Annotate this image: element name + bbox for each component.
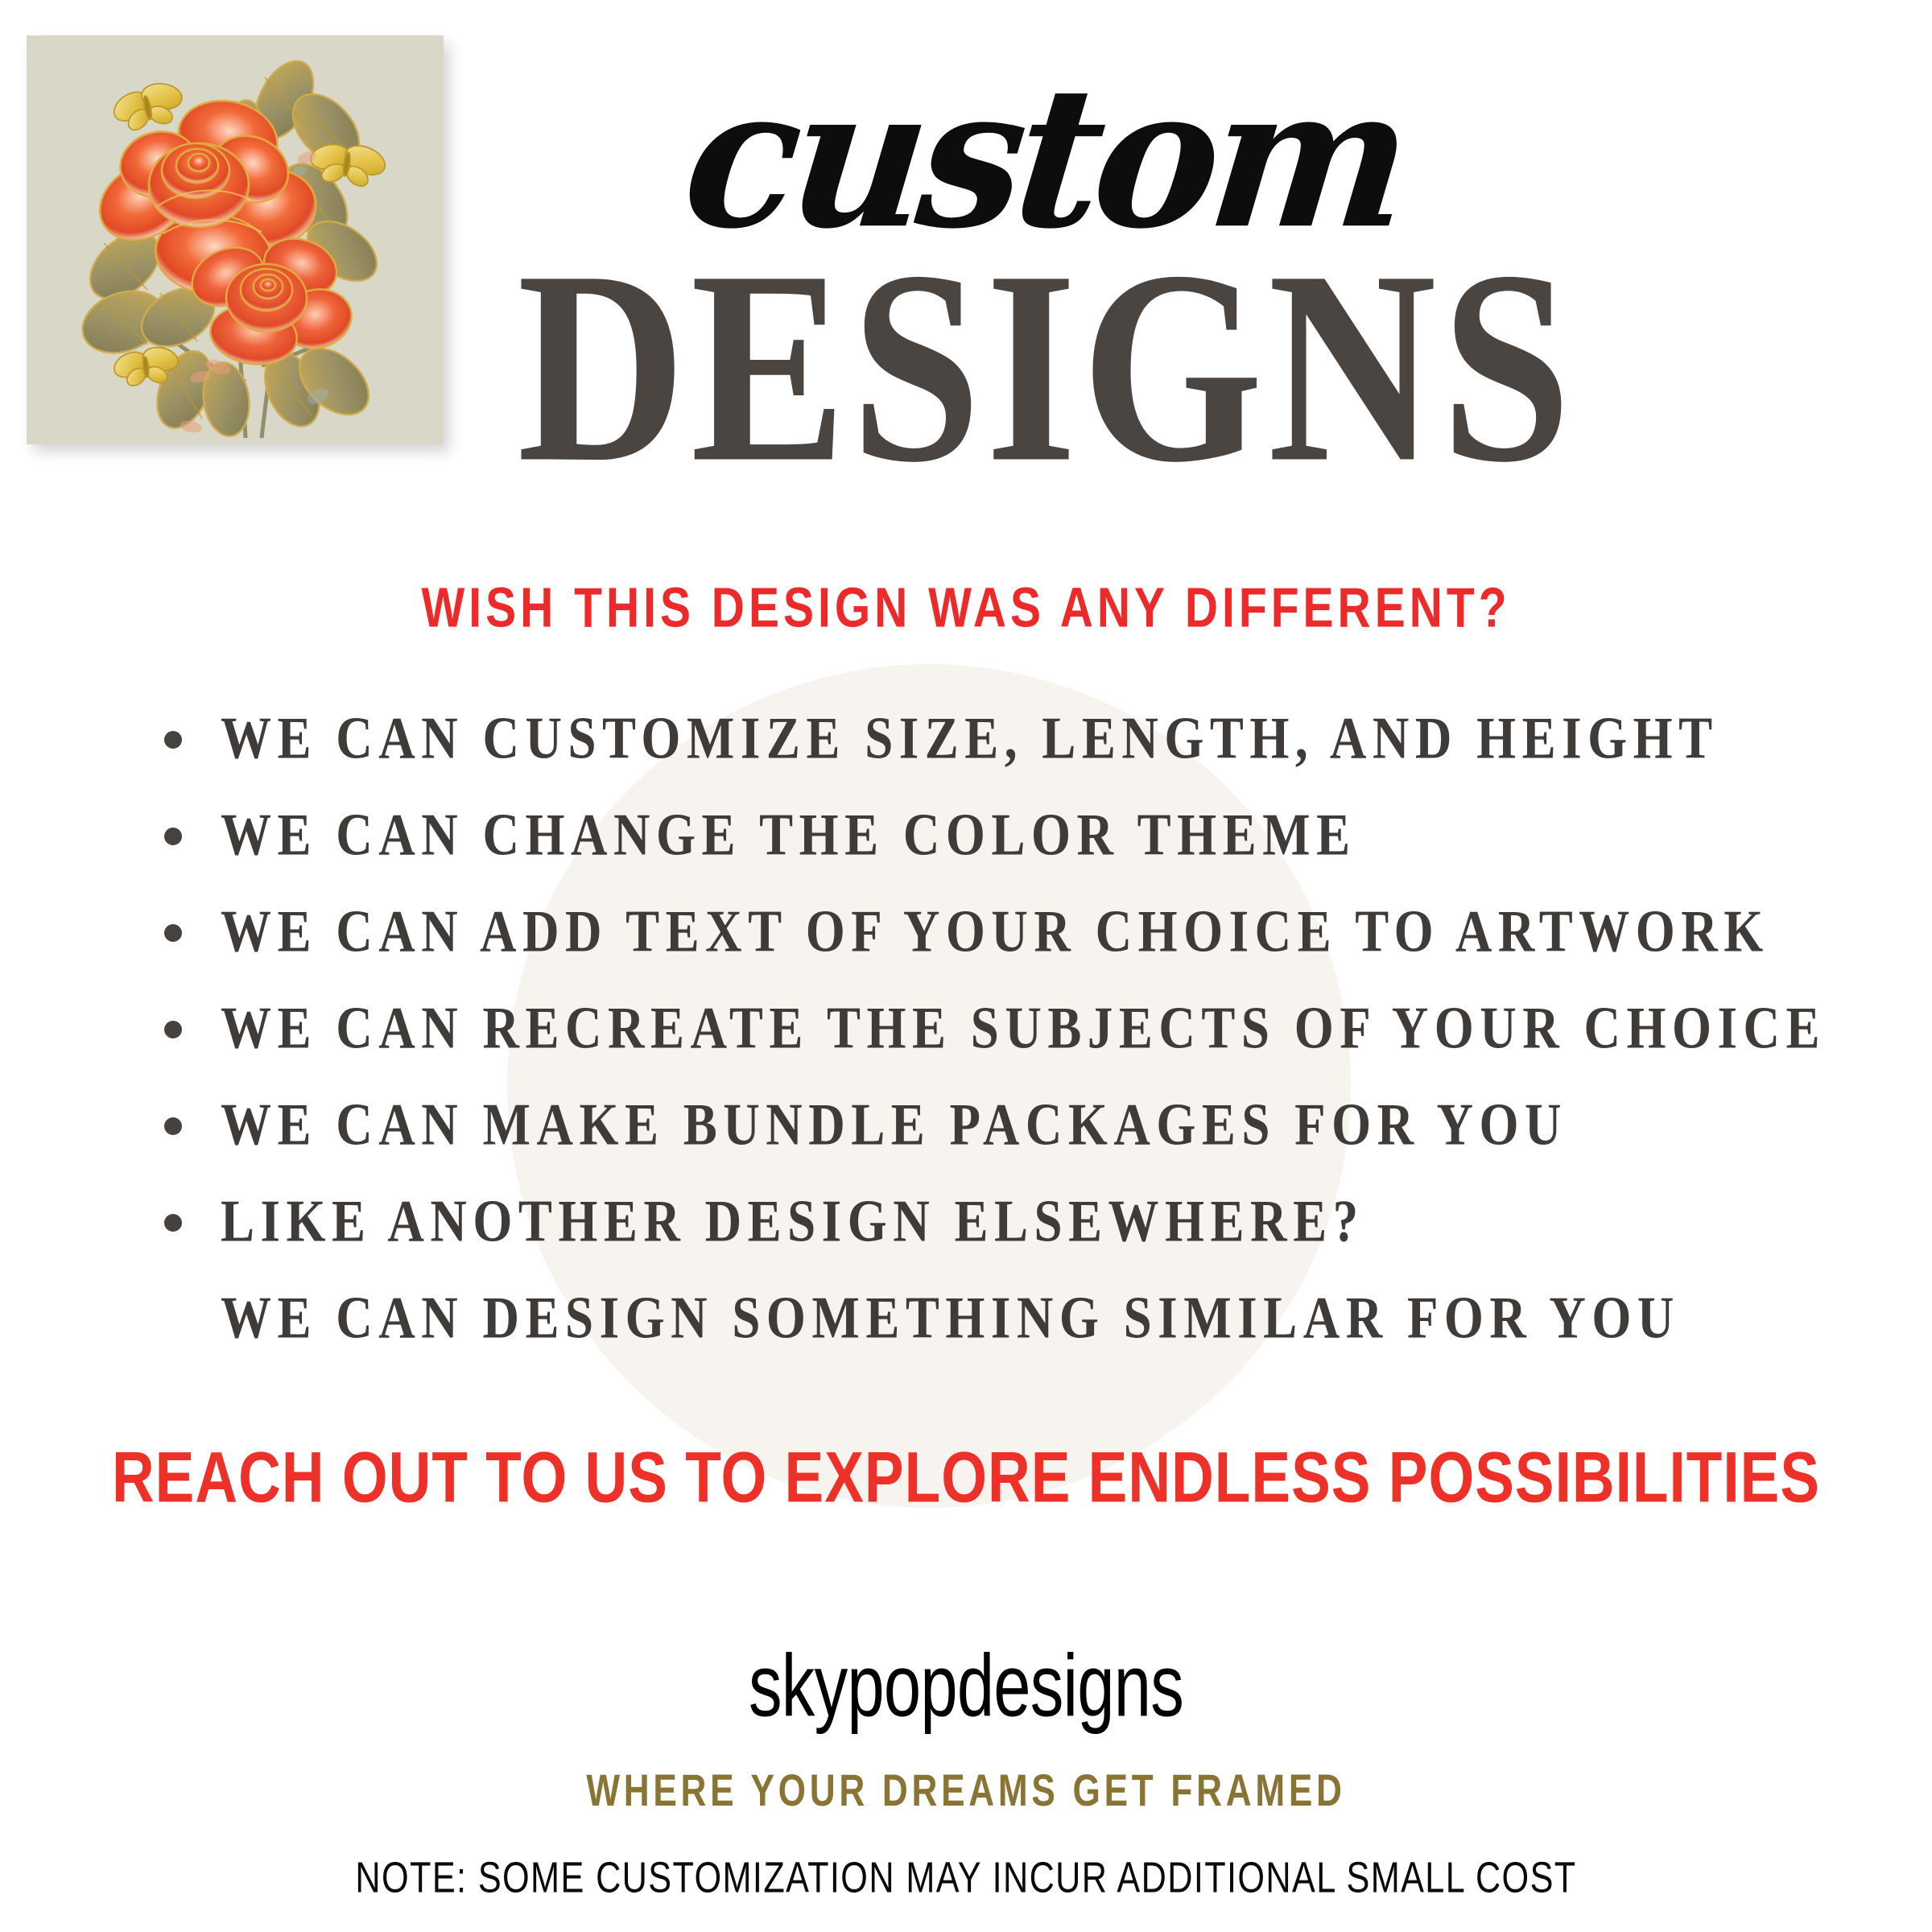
benefit-label: WE CAN ADD TEXT OF YOUR CHOICE TO ARTWOR… [221,902,1769,961]
rose-artwork-illustration [27,35,444,444]
footer-note: NOTE: SOME CUSTOMIZATION MAY INCUR ADDIT… [77,1851,1855,1902]
list-item: WE CAN MAKE BUNDLE PACKAGES FOR YOU [158,1095,1848,1191]
list-item: LIKE ANOTHER DESIGN ELSEWHERE? [158,1191,1848,1288]
header-block: custom DESIGNS [419,32,1674,452]
bullet-dot-icon [164,1021,182,1038]
benefit-label: WE CAN RECREATE THE SUBJECTS OF YOUR CHO… [221,998,1826,1058]
page-title-designs: DESIGNS [419,246,1674,488]
bullet-dot-icon [164,1214,182,1232]
benefit-label: WE CAN CUSTOMIZE SIZE, LENGTH, AND HEIGH… [221,708,1719,768]
bullet-dot-icon [164,731,182,749]
cta-text[interactable]: REACH OUT TO US TO EXPLORE ENDLESS POSSI… [0,1437,1932,1518]
list-item: WE CAN CUSTOMIZE SIZE, LENGTH, AND HEIGH… [158,708,1848,805]
list-item: WE CAN RECREATE THE SUBJECTS OF YOUR CHO… [158,998,1848,1095]
benefit-continuation-label: WE CAN DESIGN SOMETHING SIMILAR FOR YOU [158,1288,1680,1348]
benefit-label: WE CAN MAKE BUNDLE PACKAGES FOR YOU [221,1095,1567,1154]
brand-name: skypopdesigns [193,1637,1739,1737]
brand-tagline: WHERE YOUR DREAMS GET FRAMED [58,1764,1874,1816]
benefit-label: LIKE ANOTHER DESIGN ELSEWHERE? [221,1191,1364,1251]
benefits-list: WE CAN CUSTOMIZE SIZE, LENGTH, AND HEIGH… [158,708,1848,1288]
benefit-label: WE CAN CHANGE THE COLOR THEME [221,805,1356,865]
subtitle-question: WISH THIS DESIGN WAS ANY DIFFERENT? [0,576,1932,641]
bullet-dot-icon [164,1117,182,1135]
bullet-dot-icon [164,924,182,942]
list-item: WE CAN CHANGE THE COLOR THEME [158,805,1848,902]
artwork-thumbnail[interactable] [27,35,444,444]
bullet-dot-icon [164,828,182,845]
list-item: WE CAN ADD TEXT OF YOUR CHOICE TO ARTWOR… [158,902,1848,998]
